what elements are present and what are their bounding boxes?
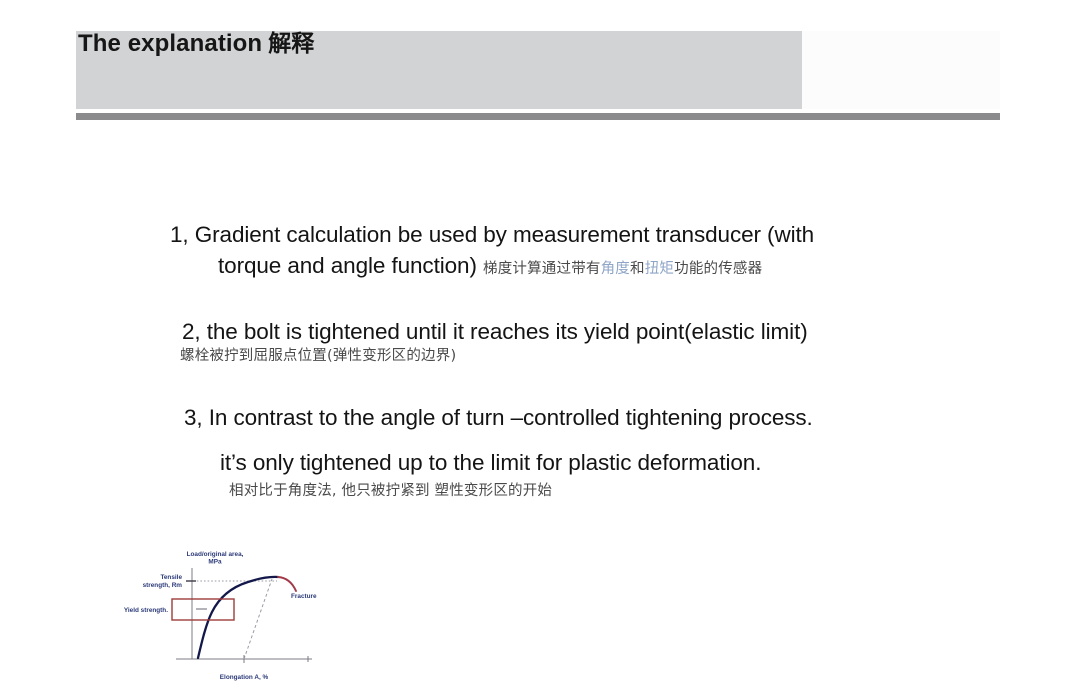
bullet-1-text-1: Gradient calculation be used by measurem… bbox=[195, 222, 814, 247]
bullet-2-index: 2, bbox=[182, 319, 201, 344]
bullet-point-1: 1, Gradient calculation be used by measu… bbox=[170, 219, 814, 285]
bullet-2-line-1: 2, the bolt is tightened until it reache… bbox=[182, 316, 808, 347]
stress-strain-diagram: Load/original area, MPa Tensile strength… bbox=[112, 546, 328, 686]
header-ghost-panel bbox=[802, 31, 1000, 109]
x-axis-label: Elongation A, % bbox=[220, 674, 269, 681]
bullet-2-text-1: the bolt is tightened until it reaches i… bbox=[207, 319, 808, 344]
y-axis-label-line-2: MPa bbox=[208, 559, 222, 566]
bullet-1-line-2: torque and angle function) 梯度计算通过带有角度和扭矩… bbox=[170, 250, 814, 285]
bullet-1-cn-post: 功能的传感器 bbox=[674, 261, 762, 277]
bullet-point-2: 2, the bolt is tightened until it reache… bbox=[182, 316, 808, 347]
bullet-1-text-2: torque and angle function) bbox=[218, 253, 477, 278]
page-title: The explanation解释 bbox=[78, 24, 314, 58]
bullet-2-cn: 螺栓被拧到屈服点位置(弹性变形区的边界) bbox=[180, 344, 456, 365]
bullet-3-cn: 相对比于角度法, 他只被拧紧到 塑性变形区的开始 bbox=[229, 479, 552, 500]
bullet-1-line-1: 1, Gradient calculation be used by measu… bbox=[170, 219, 814, 250]
bullet-1-cn-pre: 梯度计算通过带有 bbox=[483, 261, 601, 277]
tensile-strength-label-line-2: strength, Rm bbox=[143, 582, 183, 589]
page-title-en: The explanation bbox=[78, 30, 262, 57]
header-divider bbox=[76, 113, 1000, 120]
bullet-3-line-2: it’s only tightened up to the limit for … bbox=[184, 447, 813, 478]
bullet-1-cn-highlight-torque: 扭矩 bbox=[645, 261, 674, 277]
bullet-1-cn: 梯度计算通过带有角度和扭矩功能的传感器 bbox=[483, 261, 762, 277]
yield-strength-label: Yield strength. bbox=[124, 607, 168, 614]
bullet-3-text-1: In contrast to the angle of turn –contro… bbox=[209, 405, 813, 430]
bullet-1-index: 1, bbox=[170, 222, 189, 247]
bullet-1-cn-mid: 和 bbox=[630, 261, 645, 277]
page-title-cn: 解释 bbox=[262, 31, 314, 57]
fracture-label: Fracture bbox=[291, 593, 317, 600]
tensile-strength-label-line-1: Tensile bbox=[160, 574, 182, 581]
chart-background bbox=[112, 546, 328, 686]
bullet-3-line-1: 3, In contrast to the angle of turn –con… bbox=[184, 402, 813, 433]
bullet-1-cn-highlight-angle: 角度 bbox=[601, 261, 630, 277]
bullet-3-index: 3, bbox=[184, 405, 203, 430]
y-axis-label-line-1: Load/original area, bbox=[187, 551, 244, 558]
bullet-point-3: 3, In contrast to the angle of turn –con… bbox=[184, 402, 813, 478]
